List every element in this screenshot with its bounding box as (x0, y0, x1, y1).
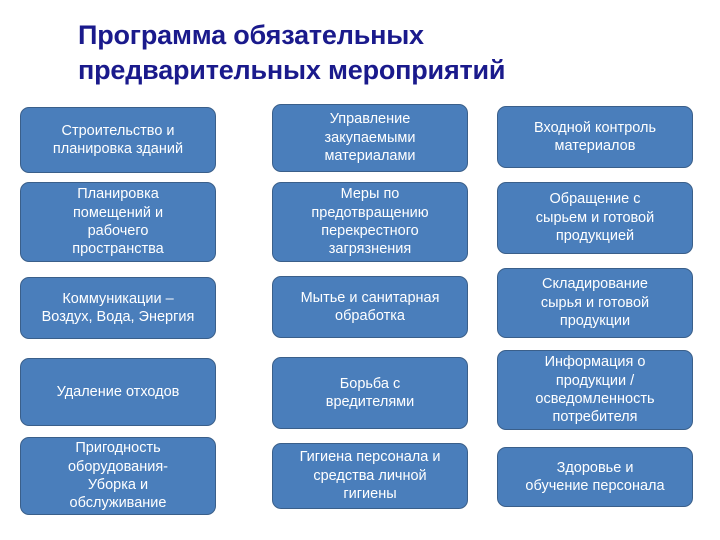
process-node[interactable]: Мытье и санитарная обработка (272, 276, 468, 338)
process-node-label: Гигиена персонала и средства личной гиги… (273, 448, 467, 503)
process-node-label: Здоровье и обучение персонала (498, 459, 692, 496)
process-node[interactable]: Коммуникации – Воздух, Вода, Энергия (20, 277, 216, 339)
process-node[interactable]: Складирование сырья и готовой продукции (497, 268, 693, 338)
process-node[interactable]: Здоровье и обучение персонала (497, 447, 693, 507)
process-node-label: Меры по предотвращению перекрестного заг… (273, 185, 467, 259)
process-node-label: Складирование сырья и готовой продукции (498, 275, 692, 330)
process-node-label: Строительство и планировка зданий (21, 122, 215, 159)
process-node[interactable]: Борьба с вредителями (272, 357, 468, 429)
process-node-label: Мытье и санитарная обработка (273, 289, 467, 326)
process-node-label: Обращение с сырьем и готовой продукцией (498, 190, 692, 245)
process-node[interactable]: Гигиена персонала и средства личной гиги… (272, 443, 468, 509)
process-node[interactable]: Строительство и планировка зданий (20, 107, 216, 173)
process-node[interactable]: Обращение с сырьем и готовой продукцией (497, 182, 693, 254)
node-column-2: Управление закупаемыми материалами Меры … (272, 0, 468, 540)
process-node[interactable]: Управление закупаемыми материалами (272, 104, 468, 172)
process-node-label: Планировка помещений и рабочего простран… (21, 185, 215, 259)
process-node-label: Удаление отходов (21, 383, 215, 401)
process-node-label: Информация о продукции / осведомленность… (498, 353, 692, 427)
process-node[interactable]: Планировка помещений и рабочего простран… (20, 182, 216, 262)
process-node[interactable]: Входной контроль материалов (497, 106, 693, 168)
process-node[interactable]: Удаление отходов (20, 358, 216, 426)
process-node-label: Борьба с вредителями (273, 375, 467, 412)
process-node[interactable]: Пригодность оборудования- Уборка и обслу… (20, 437, 216, 515)
node-column-1: Строительство и планировка зданий Планир… (20, 0, 216, 540)
process-node[interactable]: Информация о продукции / осведомленность… (497, 350, 693, 430)
process-node-label: Коммуникации – Воздух, Вода, Энергия (21, 290, 215, 327)
process-node[interactable]: Меры по предотвращению перекрестного заг… (272, 182, 468, 262)
process-node-label: Управление закупаемыми материалами (273, 110, 467, 165)
process-node-label: Входной контроль материалов (498, 119, 692, 156)
process-node-label: Пригодность оборудования- Уборка и обслу… (21, 439, 215, 513)
slide-canvas: Программа обязательных предварительных м… (0, 0, 720, 540)
node-column-3: Входной контроль материалов Обращение с … (497, 0, 693, 540)
